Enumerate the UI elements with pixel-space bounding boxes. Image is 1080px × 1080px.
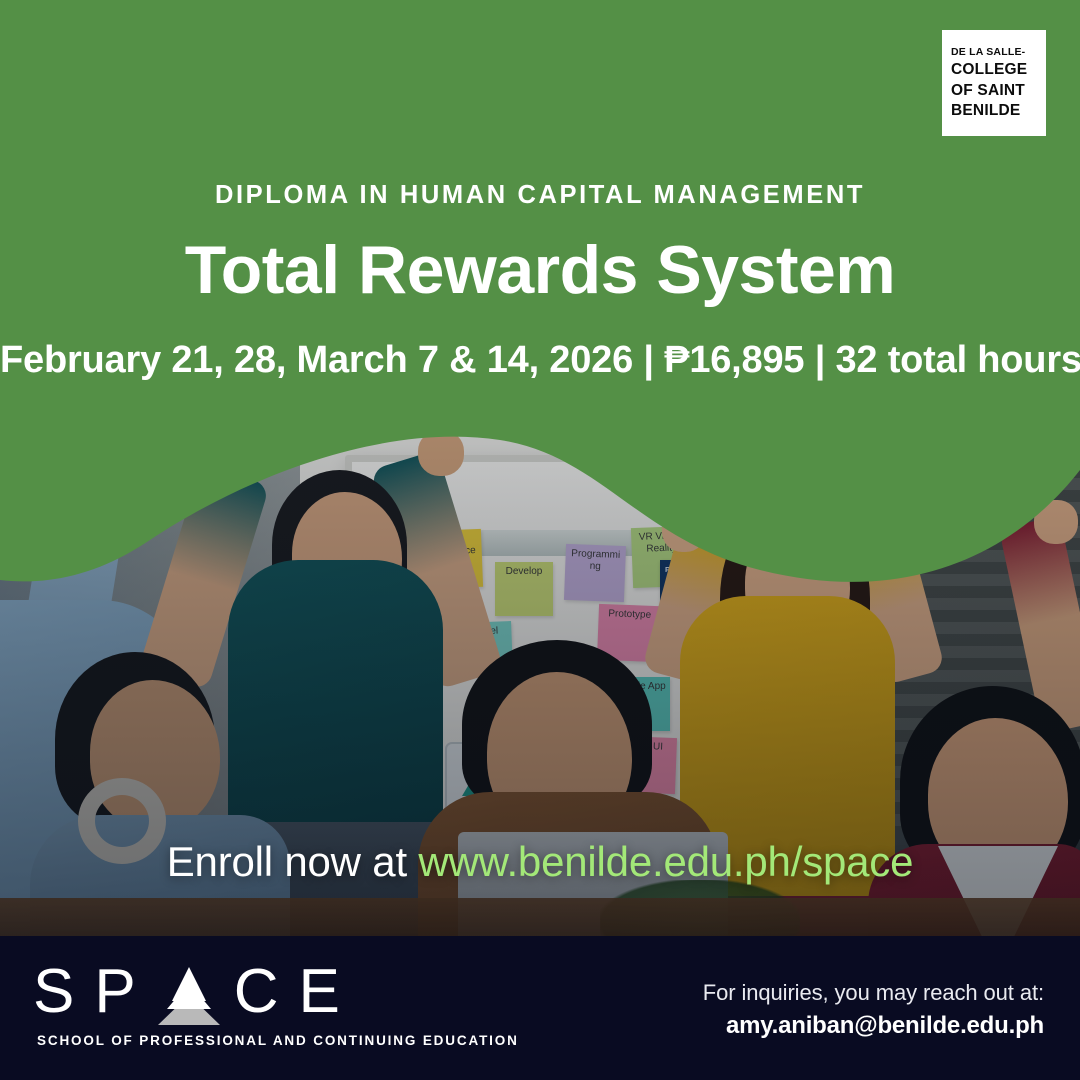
inquiry-block: For inquiries, you may reach out at: amy… xyxy=(703,980,1044,1040)
logo-line-1: DE LA SALLE- xyxy=(951,45,1037,60)
space-logo: S P C E SCHOOL OF PROFESSIONAL AND CONTI… xyxy=(33,961,519,1048)
promotional-poster: User ExperienceDevelopProgrammingVR Virt… xyxy=(0,0,1080,1080)
institution-logo: DE LA SALLE- COLLEGE OF SAINT BENILDE xyxy=(942,30,1046,136)
space-letter-e: E xyxy=(299,961,360,1023)
space-letter-p: P xyxy=(94,961,155,1023)
space-letter-c: C xyxy=(234,961,299,1023)
logo-line-2: COLLEGE xyxy=(951,60,1037,80)
space-wordmark: S P C E xyxy=(33,961,519,1023)
inquiry-email[interactable]: amy.aniban@benilde.edu.ph xyxy=(703,1012,1044,1040)
space-letter-s: S xyxy=(33,961,94,1023)
logo-line-4: BENILDE xyxy=(951,101,1037,121)
course-details: February 21, 28, March 7 & 14, 2026 | ₱1… xyxy=(0,339,1080,382)
mountain-a-icon xyxy=(158,967,220,1025)
inquiry-label: For inquiries, you may reach out at: xyxy=(703,980,1044,1006)
enroll-prefix: Enroll now at xyxy=(167,838,419,885)
space-tagline: SCHOOL OF PROFESSIONAL AND CONTINUING ED… xyxy=(37,1033,519,1048)
enroll-url-link[interactable]: www.benilde.edu.ph/space xyxy=(418,838,913,885)
page-title: Total Rewards System xyxy=(0,231,1080,309)
footer-bar: S P C E SCHOOL OF PROFESSIONAL AND CONTI… xyxy=(0,936,1080,1080)
program-kicker: DIPLOMA IN HUMAN CAPITAL MANAGEMENT xyxy=(0,181,1080,210)
logo-line-3: OF SAINT xyxy=(951,81,1037,101)
enroll-callout: Enroll now at www.benilde.edu.ph/space xyxy=(0,838,1080,886)
